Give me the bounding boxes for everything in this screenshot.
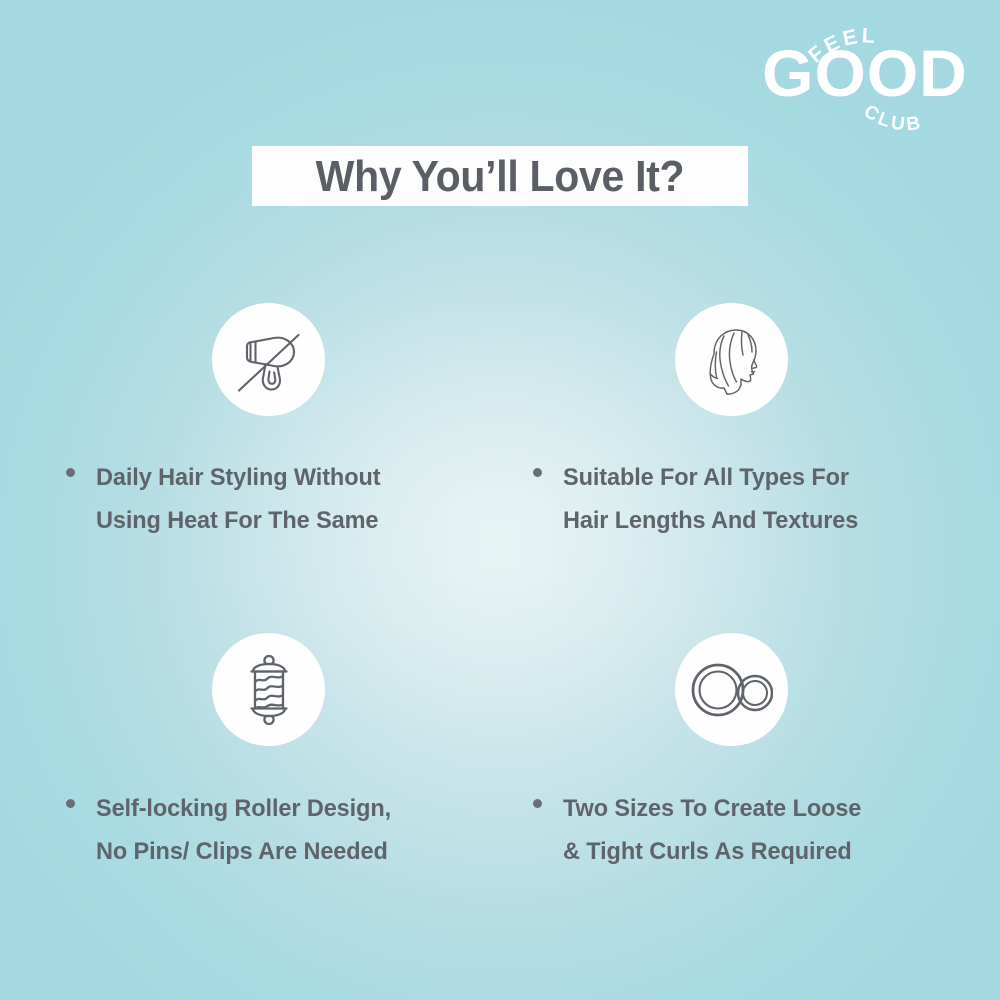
feature-icon-circle-1 (212, 303, 325, 416)
bullet-dot (533, 468, 542, 477)
two-circle-sizes-icon (691, 659, 773, 721)
feature-bullet-row-2: Suitable For All Types For Hair Lengths … (533, 455, 973, 539)
feature-bullet-row-4: Two Sizes To Create Loose & Tight Curls … (533, 786, 973, 870)
bullet-dot (66, 468, 75, 477)
bullet-dot (66, 799, 75, 808)
feature-bullet-text-4: Two Sizes To Create Loose & Tight Curls … (563, 786, 861, 873)
feature-icon-circle-3 (212, 633, 325, 746)
woman-hair-profile-icon (694, 322, 770, 398)
no-heat-hair-dryer-icon (230, 321, 308, 399)
feature-bullet-text-2: Suitable For All Types For Hair Lengths … (563, 455, 858, 542)
feature-bullet-row-1: Daily Hair Styling Without Using Heat Fo… (66, 455, 506, 539)
feature-icon-circle-4 (675, 633, 788, 746)
logo-good-text: GOOD (762, 36, 968, 110)
feature-bullet-text-3: Self-locking Roller Design, No Pins/ Cli… (96, 786, 391, 873)
feature-bullet-text-1: Daily Hair Styling Without Using Heat Fo… (96, 455, 380, 542)
barber-pole-roller-icon (232, 651, 306, 729)
page-title: Why You’ll Love It? (316, 154, 685, 197)
title-banner: Why You’ll Love It? (252, 146, 748, 206)
brand-logo: FEEL GOOD CLUB (757, 14, 987, 134)
feature-icon-circle-2 (675, 303, 788, 416)
bullet-dot (533, 799, 542, 808)
feature-bullet-row-3: Self-locking Roller Design, No Pins/ Cli… (66, 786, 506, 870)
